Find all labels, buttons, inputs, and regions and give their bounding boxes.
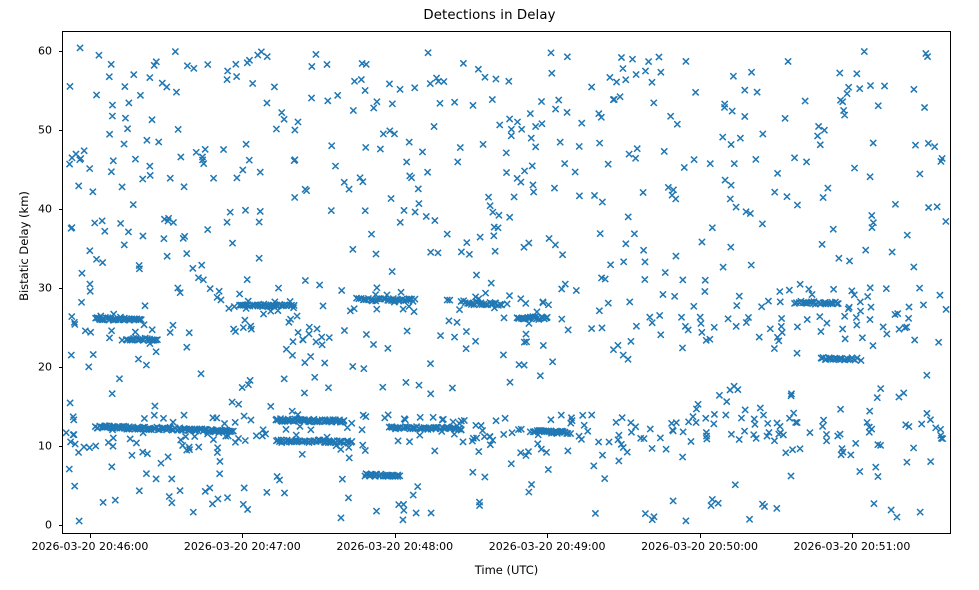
chart-title: Detections in Delay	[0, 8, 979, 23]
x-tick-5	[852, 534, 853, 538]
x-tick-label-1: 2026-03-20 20:47:00	[184, 540, 301, 553]
x-tick-0	[90, 534, 91, 538]
y-tick-4	[59, 209, 63, 210]
y-tick-label-0: 0	[0, 518, 52, 531]
x-tick-label-0: 2026-03-20 20:46:00	[32, 540, 149, 553]
y-tick-label-6: 60	[0, 44, 52, 57]
scatter-series	[63, 32, 950, 533]
y-tick-3	[59, 288, 63, 289]
x-tick-label-4: 2026-03-20 20:50:00	[641, 540, 758, 553]
x-tick-1	[242, 534, 243, 538]
x-tick-4	[700, 534, 701, 538]
y-tick-5	[59, 130, 63, 131]
y-tick-2	[59, 367, 63, 368]
chart-figure: Detections in Delay 2026-03-20 20:46:002…	[0, 0, 979, 590]
y-tick-6	[59, 51, 63, 52]
x-tick-label-2: 2026-03-20 20:48:00	[336, 540, 453, 553]
plot-area	[62, 31, 951, 534]
y-tick-1	[59, 446, 63, 447]
x-tick-2	[395, 534, 396, 538]
x-tick-3	[547, 534, 548, 538]
x-tick-label-3: 2026-03-20 20:49:00	[489, 540, 606, 553]
y-tick-label-1: 10	[0, 439, 52, 452]
x-tick-label-5: 2026-03-20 20:51:00	[794, 540, 911, 553]
y-tick-0	[59, 525, 63, 526]
y-axis-label: Bistatic Delay (km)	[17, 116, 31, 376]
x-axis-label: Time (UTC)	[62, 563, 951, 577]
